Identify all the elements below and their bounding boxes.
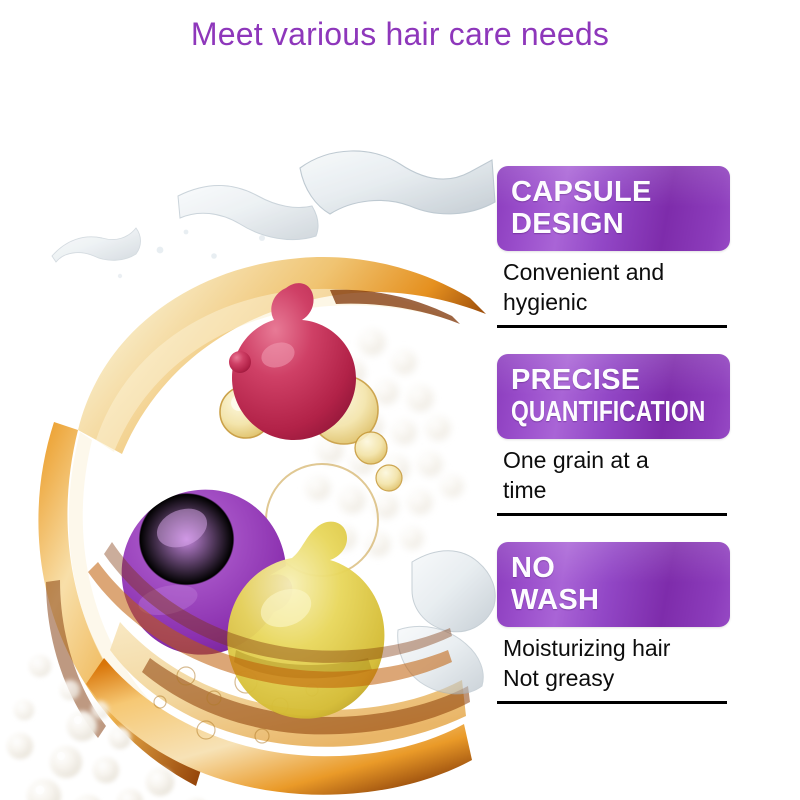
feature-list: CAPSULE DESIGN Convenient and hygienic P… bbox=[497, 166, 730, 704]
feature-badge-capsule-design[interactable]: CAPSULE DESIGN bbox=[497, 166, 730, 251]
feature-desc-line-2: hygienic bbox=[503, 287, 730, 317]
feature-badge-line-2: QUANTIFICATION bbox=[511, 396, 684, 428]
feature-item-precise-quantification: PRECISE QUANTIFICATION One grain at a ti… bbox=[497, 354, 730, 516]
feature-description-no-wash: Moisturizing hair Not greasy bbox=[497, 627, 730, 693]
feature-item-no-wash: NO WASH Moisturizing hair Not greasy bbox=[497, 542, 730, 704]
feature-badge-line-1: NO bbox=[511, 552, 730, 584]
feature-badge-precise-quantification[interactable]: PRECISE QUANTIFICATION bbox=[497, 354, 730, 439]
feature-spacer bbox=[497, 328, 730, 354]
product-feature-graphic: Meet various hair care needs bbox=[0, 0, 800, 800]
feature-description-precise-quantification: One grain at a time bbox=[497, 439, 730, 505]
feature-divider bbox=[497, 513, 727, 516]
feature-badge-line-2: DESIGN bbox=[511, 208, 730, 240]
water-splash bbox=[52, 151, 495, 278]
feature-spacer bbox=[497, 516, 730, 542]
hero-illustration bbox=[0, 110, 500, 800]
feature-divider bbox=[497, 325, 727, 328]
feature-divider bbox=[497, 701, 727, 704]
feature-desc-line-2: Not greasy bbox=[503, 663, 730, 693]
feature-desc-line-1: Convenient and bbox=[503, 257, 730, 287]
feature-badge-line-1: PRECISE bbox=[511, 364, 730, 396]
feature-desc-line-2: time bbox=[503, 475, 730, 505]
page-title: Meet various hair care needs bbox=[0, 16, 800, 53]
feature-badge-line-2: WASH bbox=[511, 584, 730, 616]
feature-description-capsule-design: Convenient and hygienic bbox=[497, 251, 730, 317]
water-splash-right bbox=[412, 551, 495, 632]
feature-badge-line-1: CAPSULE bbox=[511, 176, 730, 208]
feature-badge-no-wash[interactable]: NO WASH bbox=[497, 542, 730, 627]
hero-image bbox=[0, 110, 500, 800]
feature-desc-line-1: One grain at a bbox=[503, 445, 730, 475]
feature-item-capsule-design: CAPSULE DESIGN Convenient and hygienic bbox=[497, 166, 730, 328]
feature-desc-line-1: Moisturizing hair bbox=[503, 633, 730, 663]
